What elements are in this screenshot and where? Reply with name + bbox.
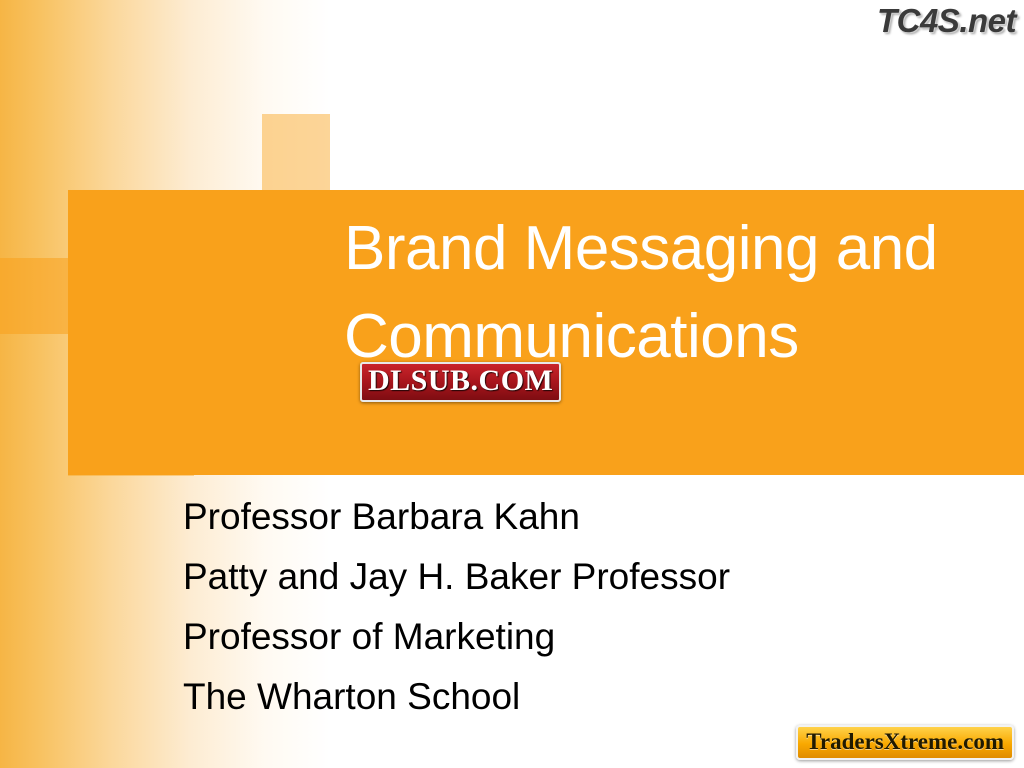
subtitle-line-4: The Wharton School [183,667,983,727]
subtitle-line-1: Professor Barbara Kahn [183,487,983,547]
decor-square-1 [262,114,330,190]
decor-square-6 [0,258,68,334]
presentation-slide: Brand Messaging and Communications Profe… [0,0,1024,768]
watermark-center-label: DLSUB.COM [368,365,553,397]
subtitle-line-3: Professor of Marketing [183,607,983,667]
watermark-top-right: TC4S.net [877,2,1016,40]
subtitle-block: Professor Barbara Kahn Patty and Jay H. … [183,487,983,727]
watermark-bottom-right: TradersXtreme.com [796,725,1014,760]
slide-title: Brand Messaging and Communications [344,205,1004,381]
subtitle-line-2: Patty and Jay H. Baker Professor [183,547,983,607]
watermark-bottom-right-label: TradersXtreme.com [806,729,1004,755]
watermark-center: DLSUB.COM [360,362,561,402]
